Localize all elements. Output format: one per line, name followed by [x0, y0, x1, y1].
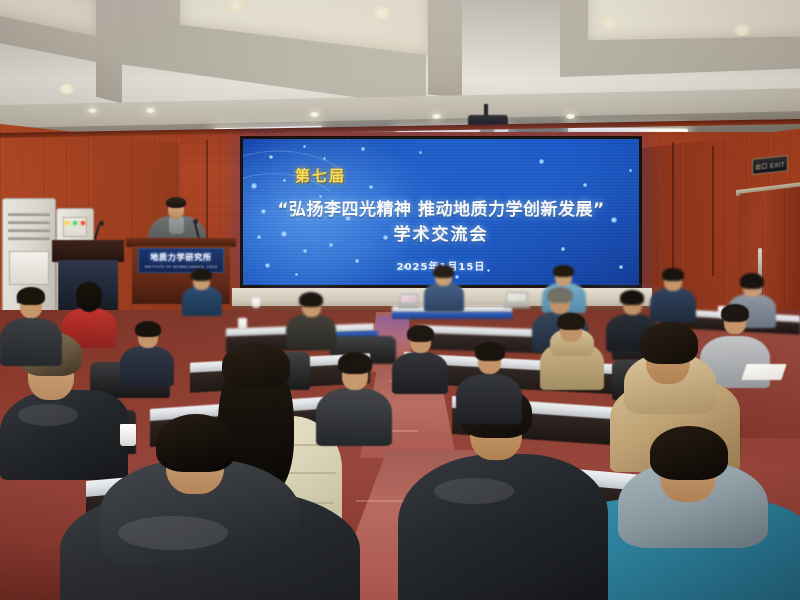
screen-dot	[561, 247, 565, 251]
downlight-4	[732, 24, 752, 36]
ceiling-spot-5	[566, 114, 575, 119]
person-row0-left	[182, 272, 222, 314]
podium-sign-english: INSTITUTE OF GEOMECHANICS, CAGS	[145, 265, 218, 269]
ac-left-panel[interactable]	[9, 251, 49, 285]
ac-right-panel[interactable]	[63, 217, 87, 237]
screen-dot	[283, 179, 286, 182]
ceiling-spot-1	[88, 108, 97, 113]
person-row0-navy	[424, 268, 464, 310]
person-mid-dark-c	[456, 348, 522, 416]
speaker-hair	[166, 197, 186, 208]
ac-indicator-green	[73, 221, 77, 225]
ceiling-spot-2	[146, 108, 155, 113]
ac-indicator-amber	[65, 221, 69, 225]
led-screen: 第七届 “弘扬李四光精神 推动地质力学创新发展” 学术交流会 2025年1月15…	[243, 139, 639, 285]
person-row2-beige-hood	[540, 318, 604, 384]
notebook-right	[741, 364, 786, 380]
screen-dot	[583, 183, 587, 187]
cup-row1	[238, 318, 247, 330]
downlight-3	[600, 16, 620, 28]
screen-dot	[323, 157, 326, 160]
screen-edition-label: 第七届	[295, 165, 346, 186]
screen-dot	[269, 155, 273, 159]
person-row1-darkcoat	[286, 296, 336, 346]
person-mid-dark-a	[392, 330, 448, 388]
screen-dot	[419, 151, 422, 154]
podium-sign-chinese: 地质力学研究所	[150, 252, 212, 263]
ac-indicator-red	[81, 221, 85, 225]
microphone-left-head	[99, 221, 104, 226]
screen-dot	[369, 185, 373, 189]
person-mid-dark-b	[316, 360, 392, 438]
person-row2-redcoat	[62, 286, 116, 342]
screen-dot	[361, 147, 365, 151]
screen-dot	[303, 249, 307, 253]
screen-dot	[539, 159, 544, 164]
person-dark-puffer-right	[398, 398, 608, 598]
front-desk-row0-front	[392, 312, 512, 319]
wall-seam-right-2	[712, 146, 714, 276]
screen-event-type: 学术交流会	[243, 220, 639, 245]
ceiling-beam-2	[428, 0, 462, 97]
person-far-left-grey	[0, 292, 62, 362]
equipment-cabinet-top	[52, 240, 124, 262]
ceiling-spot-3	[310, 112, 319, 117]
cup-row0-left	[252, 298, 260, 308]
screen-dot	[295, 273, 298, 276]
microphone-right-head	[193, 219, 198, 224]
downlight-5	[58, 84, 75, 94]
ceiling-spot-4	[432, 114, 441, 119]
screen-dot	[303, 145, 306, 148]
laptop-2[interactable]	[506, 292, 528, 308]
screen-theme-line: “弘扬李四光精神 推动地质力学创新发展”	[243, 195, 639, 220]
person-black-hood-man	[60, 430, 360, 600]
screen-dot	[251, 183, 257, 189]
downlight-2	[372, 6, 392, 19]
screen-dot	[629, 169, 632, 172]
wall-seam-right	[672, 142, 674, 282]
podium-nameplate: 地质力学研究所 INSTITUTE OF GEOMECHANICS, CAGS	[138, 248, 224, 273]
laptop-1[interactable]	[400, 294, 418, 308]
exit-sign-label: 出口 EXIT	[755, 159, 785, 171]
ceiling-beam-1	[96, 0, 122, 103]
conference-hall-photo: 出口 EXIT	[0, 0, 800, 600]
person-row2-red	[120, 326, 174, 380]
